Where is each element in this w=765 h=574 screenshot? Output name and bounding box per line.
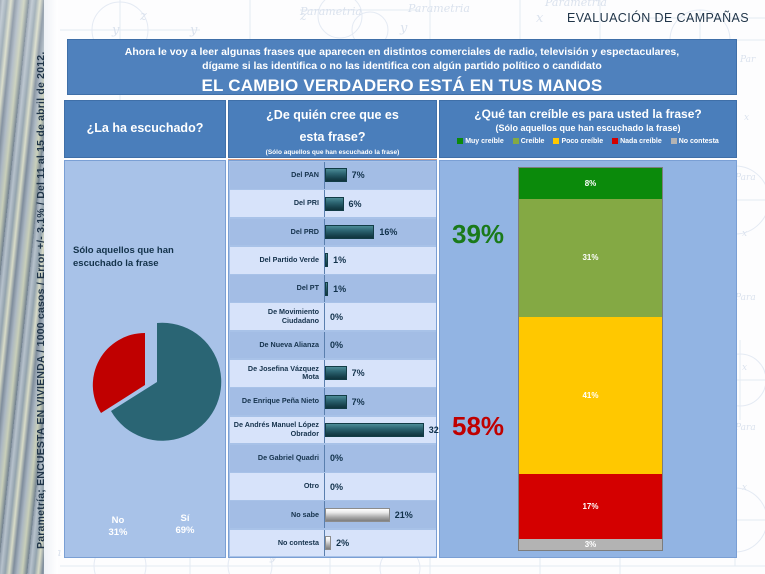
value-bar	[325, 536, 331, 550]
legend-swatch-icon	[553, 138, 559, 144]
row-label: Del PRI	[230, 199, 324, 208]
svg-text:z: z	[139, 9, 147, 24]
table-row[interactable]: De Josefina Vázquez Mota7%	[230, 360, 436, 387]
legend-item-1: Creíble	[513, 138, 545, 145]
svg-text:z: z	[299, 9, 307, 24]
stack-segment-label: 17%	[582, 502, 598, 511]
column-header-creible-title: ¿Qué tan creíble es para usted la frase?	[440, 106, 736, 122]
legend-label: Muy creíble	[465, 138, 504, 145]
bar-value-label: 21%	[395, 510, 413, 520]
bar-value-label: 2%	[336, 538, 349, 548]
svg-text:Para: Para	[734, 173, 756, 183]
svg-text:x: x	[742, 363, 747, 373]
panel-dequien: Del PAN7%Del PRI6%Del PRD16%Del Partido …	[228, 160, 437, 558]
legend-swatch-icon	[457, 138, 463, 144]
table-row[interactable]: Del PRD16%	[230, 219, 436, 246]
svg-text:Parametria: Parametria	[407, 2, 470, 15]
value-bar	[325, 423, 424, 437]
question-line-2: dígame si las identifica o no las identi…	[68, 59, 736, 73]
annotation-positive-total: 39%	[452, 219, 504, 250]
bar-value-label: 1%	[333, 284, 346, 294]
legend-item-0: Muy creíble	[457, 138, 504, 145]
table-row[interactable]: De Movimiento Ciudadano0%	[230, 303, 436, 330]
table-row[interactable]: Del Partido Verde1%	[230, 247, 436, 274]
column-header-dequien-title-2: esta frase?	[229, 129, 436, 145]
legend-label: Nada creíble	[620, 138, 662, 145]
row-bar-area: 1%	[324, 247, 436, 274]
row-label: De Gabriel Quadri	[230, 454, 324, 463]
pie-slice-si-name: Sí	[167, 513, 203, 525]
stack-segment-4: 3%	[519, 539, 662, 550]
table-row[interactable]: Del PT1%	[230, 275, 436, 302]
row-label: No sabe	[230, 511, 324, 520]
legend-label: Creíble	[521, 138, 545, 145]
legend-swatch-icon	[612, 138, 618, 144]
row-label: De Andrés Manuel López Obrador	[230, 421, 324, 438]
pie-slice-si-value: 69%	[167, 525, 203, 537]
svg-text:Para: Para	[734, 423, 756, 433]
credibility-legend: Muy creíbleCreíblePoco creíbleNada creíb…	[440, 138, 736, 145]
column-header-dequien-title-1: ¿De quién cree que es	[229, 107, 436, 123]
row-label: De Nueva Alianza	[230, 341, 324, 350]
bar-value-label: 7%	[352, 368, 365, 378]
filter-note: Sólo aquellos que han escuchado la frase	[73, 244, 213, 270]
row-bar-area: 0%	[324, 332, 436, 359]
table-row[interactable]: Del PAN7%	[230, 162, 436, 189]
pie-chart-escuchado: Sí 69% No 31%	[71, 317, 223, 447]
bar-value-label: 7%	[352, 397, 365, 407]
row-bar-area: 7%	[324, 360, 436, 387]
column-header-dequien: ¿De quién cree que es esta frase? (Sólo …	[228, 100, 437, 158]
table-row[interactable]: No sabe21%	[230, 501, 436, 528]
row-bar-area: 0%	[324, 303, 436, 330]
stack-segment-label: 31%	[582, 253, 598, 262]
bar-value-label: 0%	[330, 482, 343, 492]
column-header-creible-subtitle: (Sólo aquellos que han escuchado la fras…	[440, 123, 736, 133]
row-label: De Josefina Vázquez Mota	[230, 365, 324, 382]
row-label: Del Partido Verde	[230, 256, 324, 265]
svg-text:Par: Par	[739, 55, 756, 65]
row-label: Del PRD	[230, 228, 324, 237]
column-header-creible: ¿Qué tan creíble es para usted la frase?…	[439, 100, 737, 158]
deck-title: EVALUACIÓN DE CAMPAÑAS	[567, 11, 749, 25]
row-bar-area: 21%	[324, 501, 436, 528]
bar-value-label: 0%	[330, 340, 343, 350]
legend-swatch-icon	[671, 138, 677, 144]
bar-value-label: 0%	[330, 312, 343, 322]
pie-slice-no-name: No	[101, 515, 135, 527]
bar-value-label: 0%	[330, 453, 343, 463]
legend-item-2: Poco creíble	[553, 138, 603, 145]
table-row[interactable]: De Andrés Manuel López Obrador32%	[230, 417, 436, 444]
row-bar-area: 1%	[324, 275, 436, 302]
table-row[interactable]: De Gabriel Quadri0%	[230, 445, 436, 472]
axis-line	[324, 303, 325, 330]
panel-escuchado: Sólo aquellos que han escuchado la frase…	[64, 160, 226, 558]
row-label: De Movimiento Ciudadano	[230, 308, 324, 325]
legend-item-4: No contesta	[671, 138, 719, 145]
row-bar-area: 6%	[324, 190, 436, 217]
value-bar	[325, 168, 347, 182]
stack-segment-1: 31%	[519, 199, 662, 317]
row-bar-area: 0%	[324, 445, 436, 472]
axis-line	[324, 473, 325, 500]
stacked-bar-credibilidad: 8%31%41%17%3%	[518, 167, 663, 551]
row-label: De Enrique Peña Nieto	[230, 397, 324, 406]
row-label: No contesta	[230, 539, 324, 548]
row-label: Otro	[230, 482, 324, 491]
table-row[interactable]: No contesta2%	[230, 530, 436, 557]
stack-segment-label: 41%	[582, 391, 598, 400]
stack-segment-label: 3%	[585, 540, 597, 549]
question-banner: Ahora le voy a leer algunas frases que a…	[67, 39, 737, 95]
table-row[interactable]: Otro0%	[230, 473, 436, 500]
row-bar-area: 7%	[324, 162, 436, 189]
stack-segment-0: 8%	[519, 168, 662, 199]
svg-text:Parametria: Parametria	[544, 0, 607, 9]
svg-text:Para: Para	[734, 293, 756, 303]
row-bar-area: 16%	[324, 219, 436, 246]
svg-text:Parametria: Parametria	[299, 5, 362, 18]
stack-segment-3: 17%	[519, 474, 662, 539]
column-header-escuchado-title: ¿La ha escuchado?	[65, 120, 225, 136]
bar-value-label: 6%	[349, 199, 362, 209]
bar-value-label: 1%	[333, 255, 346, 265]
legend-swatch-icon	[513, 138, 519, 144]
value-bar	[325, 253, 328, 267]
column-header-dequien-subtitle: (Sólo aquellos que han escuchado la fras…	[229, 149, 436, 156]
svg-text:y: y	[189, 23, 198, 38]
source-credit: Parametría; ENCUESTA EN VIVIENDA / 1000 …	[35, 0, 47, 555]
svg-text:y: y	[111, 23, 120, 38]
column-header-escuchado: ¿La ha escuchado?	[64, 100, 226, 158]
question-line-1: Ahora le voy a leer algunas frases que a…	[68, 45, 736, 59]
phrase-title: EL CAMBIO VERDADERO ESTÁ EN TUS MANOS	[68, 76, 736, 96]
row-label: Del PT	[230, 284, 324, 293]
table-row[interactable]: Del PRI6%	[230, 190, 436, 217]
svg-text:x: x	[742, 229, 747, 239]
row-label: Del PAN	[230, 171, 324, 180]
svg-text:x: x	[742, 483, 747, 493]
pie-slice-label-si: Sí 69%	[167, 513, 203, 537]
value-bar	[325, 508, 390, 522]
value-bar	[325, 197, 344, 211]
bar-value-label: 16%	[379, 227, 397, 237]
axis-line	[324, 332, 325, 359]
svg-text:x: x	[536, 11, 544, 26]
row-bar-area: 7%	[324, 388, 436, 415]
legend-label: No contesta	[679, 138, 719, 145]
svg-text:y: y	[399, 21, 408, 36]
legend-label: Poco creíble	[561, 138, 603, 145]
attribution-bar-rows: Del PAN7%Del PRI6%Del PRD16%Del Partido …	[229, 161, 436, 557]
pie-slice-no-value: 31%	[101, 527, 135, 539]
value-bar	[325, 395, 347, 409]
value-bar	[325, 225, 374, 239]
slide-canvas: z y z y z y x Parametria Parametria Para…	[0, 0, 765, 574]
panel-credibilidad: 39% 58% 8%31%41%17%3%	[439, 160, 737, 558]
value-bar	[325, 366, 347, 380]
table-row[interactable]: De Nueva Alianza0%	[230, 332, 436, 359]
annotation-negative-total: 58%	[452, 411, 504, 442]
row-bar-area: 2%	[324, 530, 436, 557]
stack-segment-2: 41%	[519, 317, 662, 474]
legend-item-3: Nada creíble	[612, 138, 662, 145]
table-row[interactable]: De Enrique Peña Nieto7%	[230, 388, 436, 415]
bar-value-label: 7%	[352, 170, 365, 180]
stack-segment-label: 8%	[585, 179, 597, 188]
row-bar-area: 32%	[324, 417, 436, 444]
row-bar-area: 0%	[324, 473, 436, 500]
value-bar	[325, 282, 328, 296]
pie-slice-label-no: No 31%	[101, 515, 135, 539]
svg-text:x: x	[744, 113, 749, 123]
axis-line	[324, 445, 325, 472]
